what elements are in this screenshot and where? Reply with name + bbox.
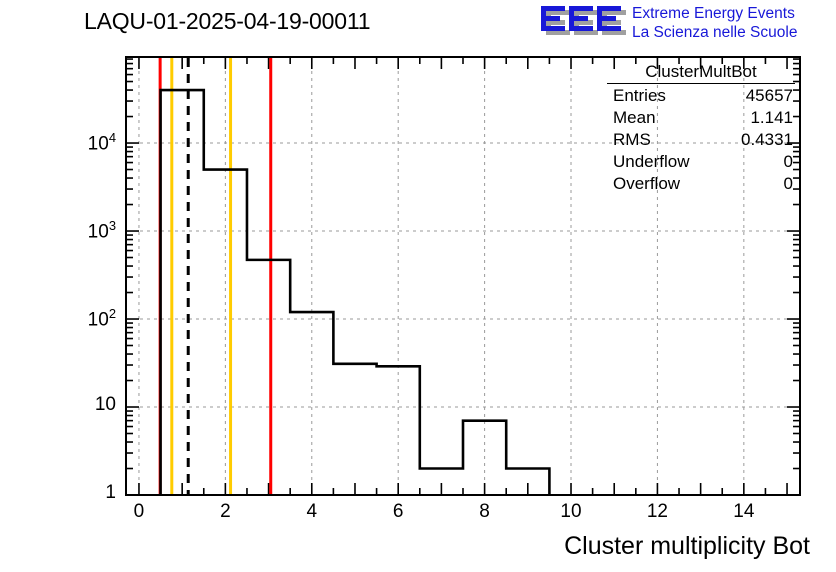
stats-key: Entries: [613, 85, 666, 107]
x-tick-label: 8: [460, 501, 510, 523]
root-canvas: LAQU-01-2025-04-19-00011: [0, 0, 836, 572]
stats-key: Overflow: [613, 173, 680, 195]
stats-key: RMS: [613, 129, 651, 151]
stats-value: 0.4331: [741, 129, 793, 151]
y-tick-label: 103: [88, 218, 116, 243]
stats-key: Underflow: [613, 151, 690, 173]
stats-value: 0: [784, 173, 793, 195]
y-tick-label: 102: [88, 306, 116, 331]
stats-value: 1.141: [750, 107, 793, 129]
x-axis-title: Cluster multiplicity Bot: [564, 532, 810, 561]
y-tick-label: 10: [95, 394, 116, 416]
stats-box: ClusterMultBot Entries45657Mean1.141RMS0…: [607, 62, 795, 195]
stats-row: Underflow0: [607, 151, 795, 173]
histogram-outline: [161, 90, 550, 495]
stats-row: Mean1.141: [607, 107, 795, 129]
histogram-steps: [161, 90, 550, 495]
stats-value: 45657: [746, 85, 793, 107]
stats-title: ClusterMultBot: [607, 62, 795, 84]
stats-row: Entries45657: [607, 85, 795, 107]
x-tick-label: 0: [114, 501, 164, 523]
x-tick-label: 4: [287, 501, 337, 523]
stats-value: 0: [784, 151, 793, 173]
stats-row: RMS0.4331: [607, 129, 795, 151]
x-tick-label: 6: [373, 501, 423, 523]
x-tick-label: 14: [719, 501, 769, 523]
stats-key: Mean: [613, 107, 656, 129]
stats-row: Overflow0: [607, 173, 795, 195]
x-tick-label: 2: [200, 501, 250, 523]
marker-lines: [160, 58, 271, 494]
stats-rows: Entries45657Mean1.141RMS0.4331Underflow0…: [607, 85, 795, 195]
x-tick-label: 10: [546, 501, 596, 523]
x-tick-label: 12: [632, 501, 682, 523]
y-tick-label: 104: [88, 130, 116, 155]
